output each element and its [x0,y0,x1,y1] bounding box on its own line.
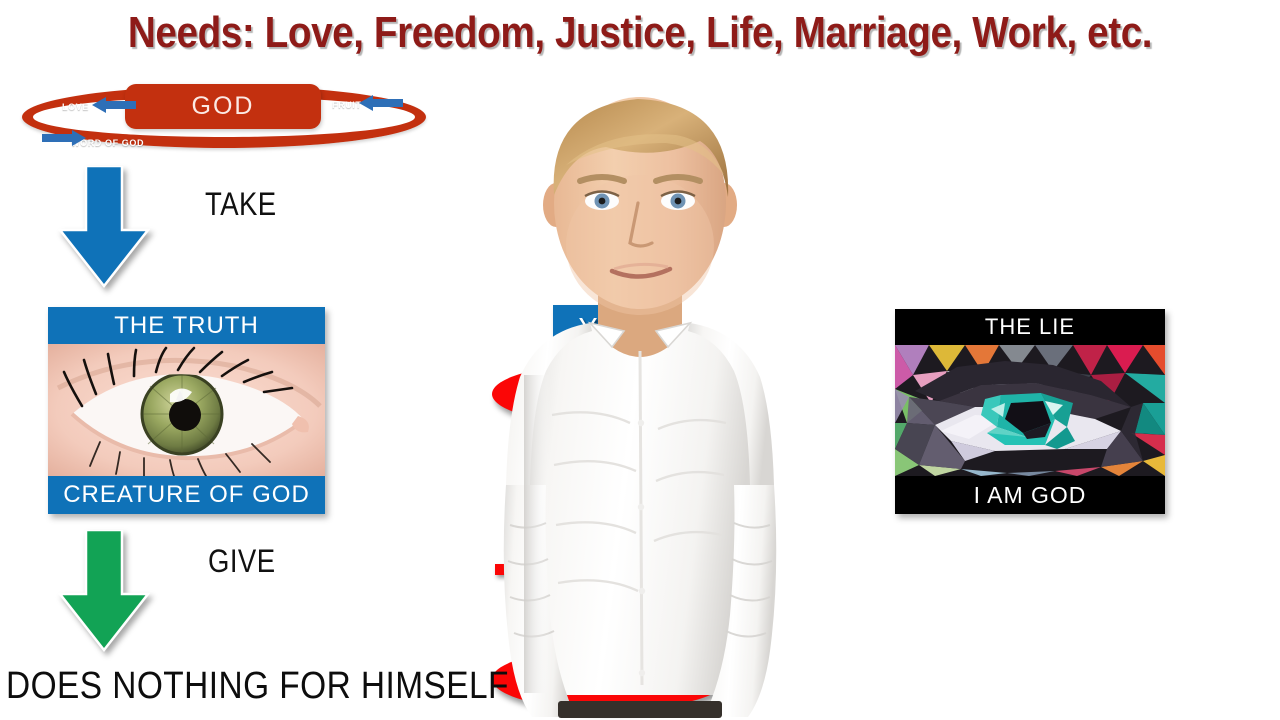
ring-label-fruit: FRUIT [332,100,362,110]
god-diagram: GOD LOVE FRUIT WORD OF GOD [14,78,434,163]
arrow-left-icon [359,95,403,111]
truth-panel-header: THE TRUTH [48,307,325,344]
lie-panel-header: THE LIE [895,309,1165,345]
take-arrow-down-icon [58,166,150,288]
god-box-label: GOD [192,92,255,121]
person-photo [380,55,900,720]
god-box: GOD [125,84,321,129]
lie-eye-image [895,345,1165,476]
arrow-right-icon [42,130,86,146]
give-arrow-down-icon [58,530,150,652]
bottom-statement: DOES NOTHING FOR HIMSELF [6,665,509,708]
give-label: GIVE [208,543,275,580]
truth-eye-image [48,344,325,476]
ring-label-love: LOVE [62,102,89,112]
arrow-left-icon [92,97,136,113]
take-label: TAKE [205,186,277,223]
slide-canvas: Needs: Love, Freedom, Justice, Life, Mar… [0,0,1280,720]
page-title: Needs: Love, Freedom, Justice, Life, Mar… [77,8,1203,58]
truth-panel: THE TRUTH CREATURE OF GOD [48,307,325,514]
lie-panel: THE LIE I AM GOD [895,309,1165,514]
lie-panel-footer: I AM GOD [895,476,1165,514]
truth-panel-footer: CREATURE OF GOD [48,476,325,514]
